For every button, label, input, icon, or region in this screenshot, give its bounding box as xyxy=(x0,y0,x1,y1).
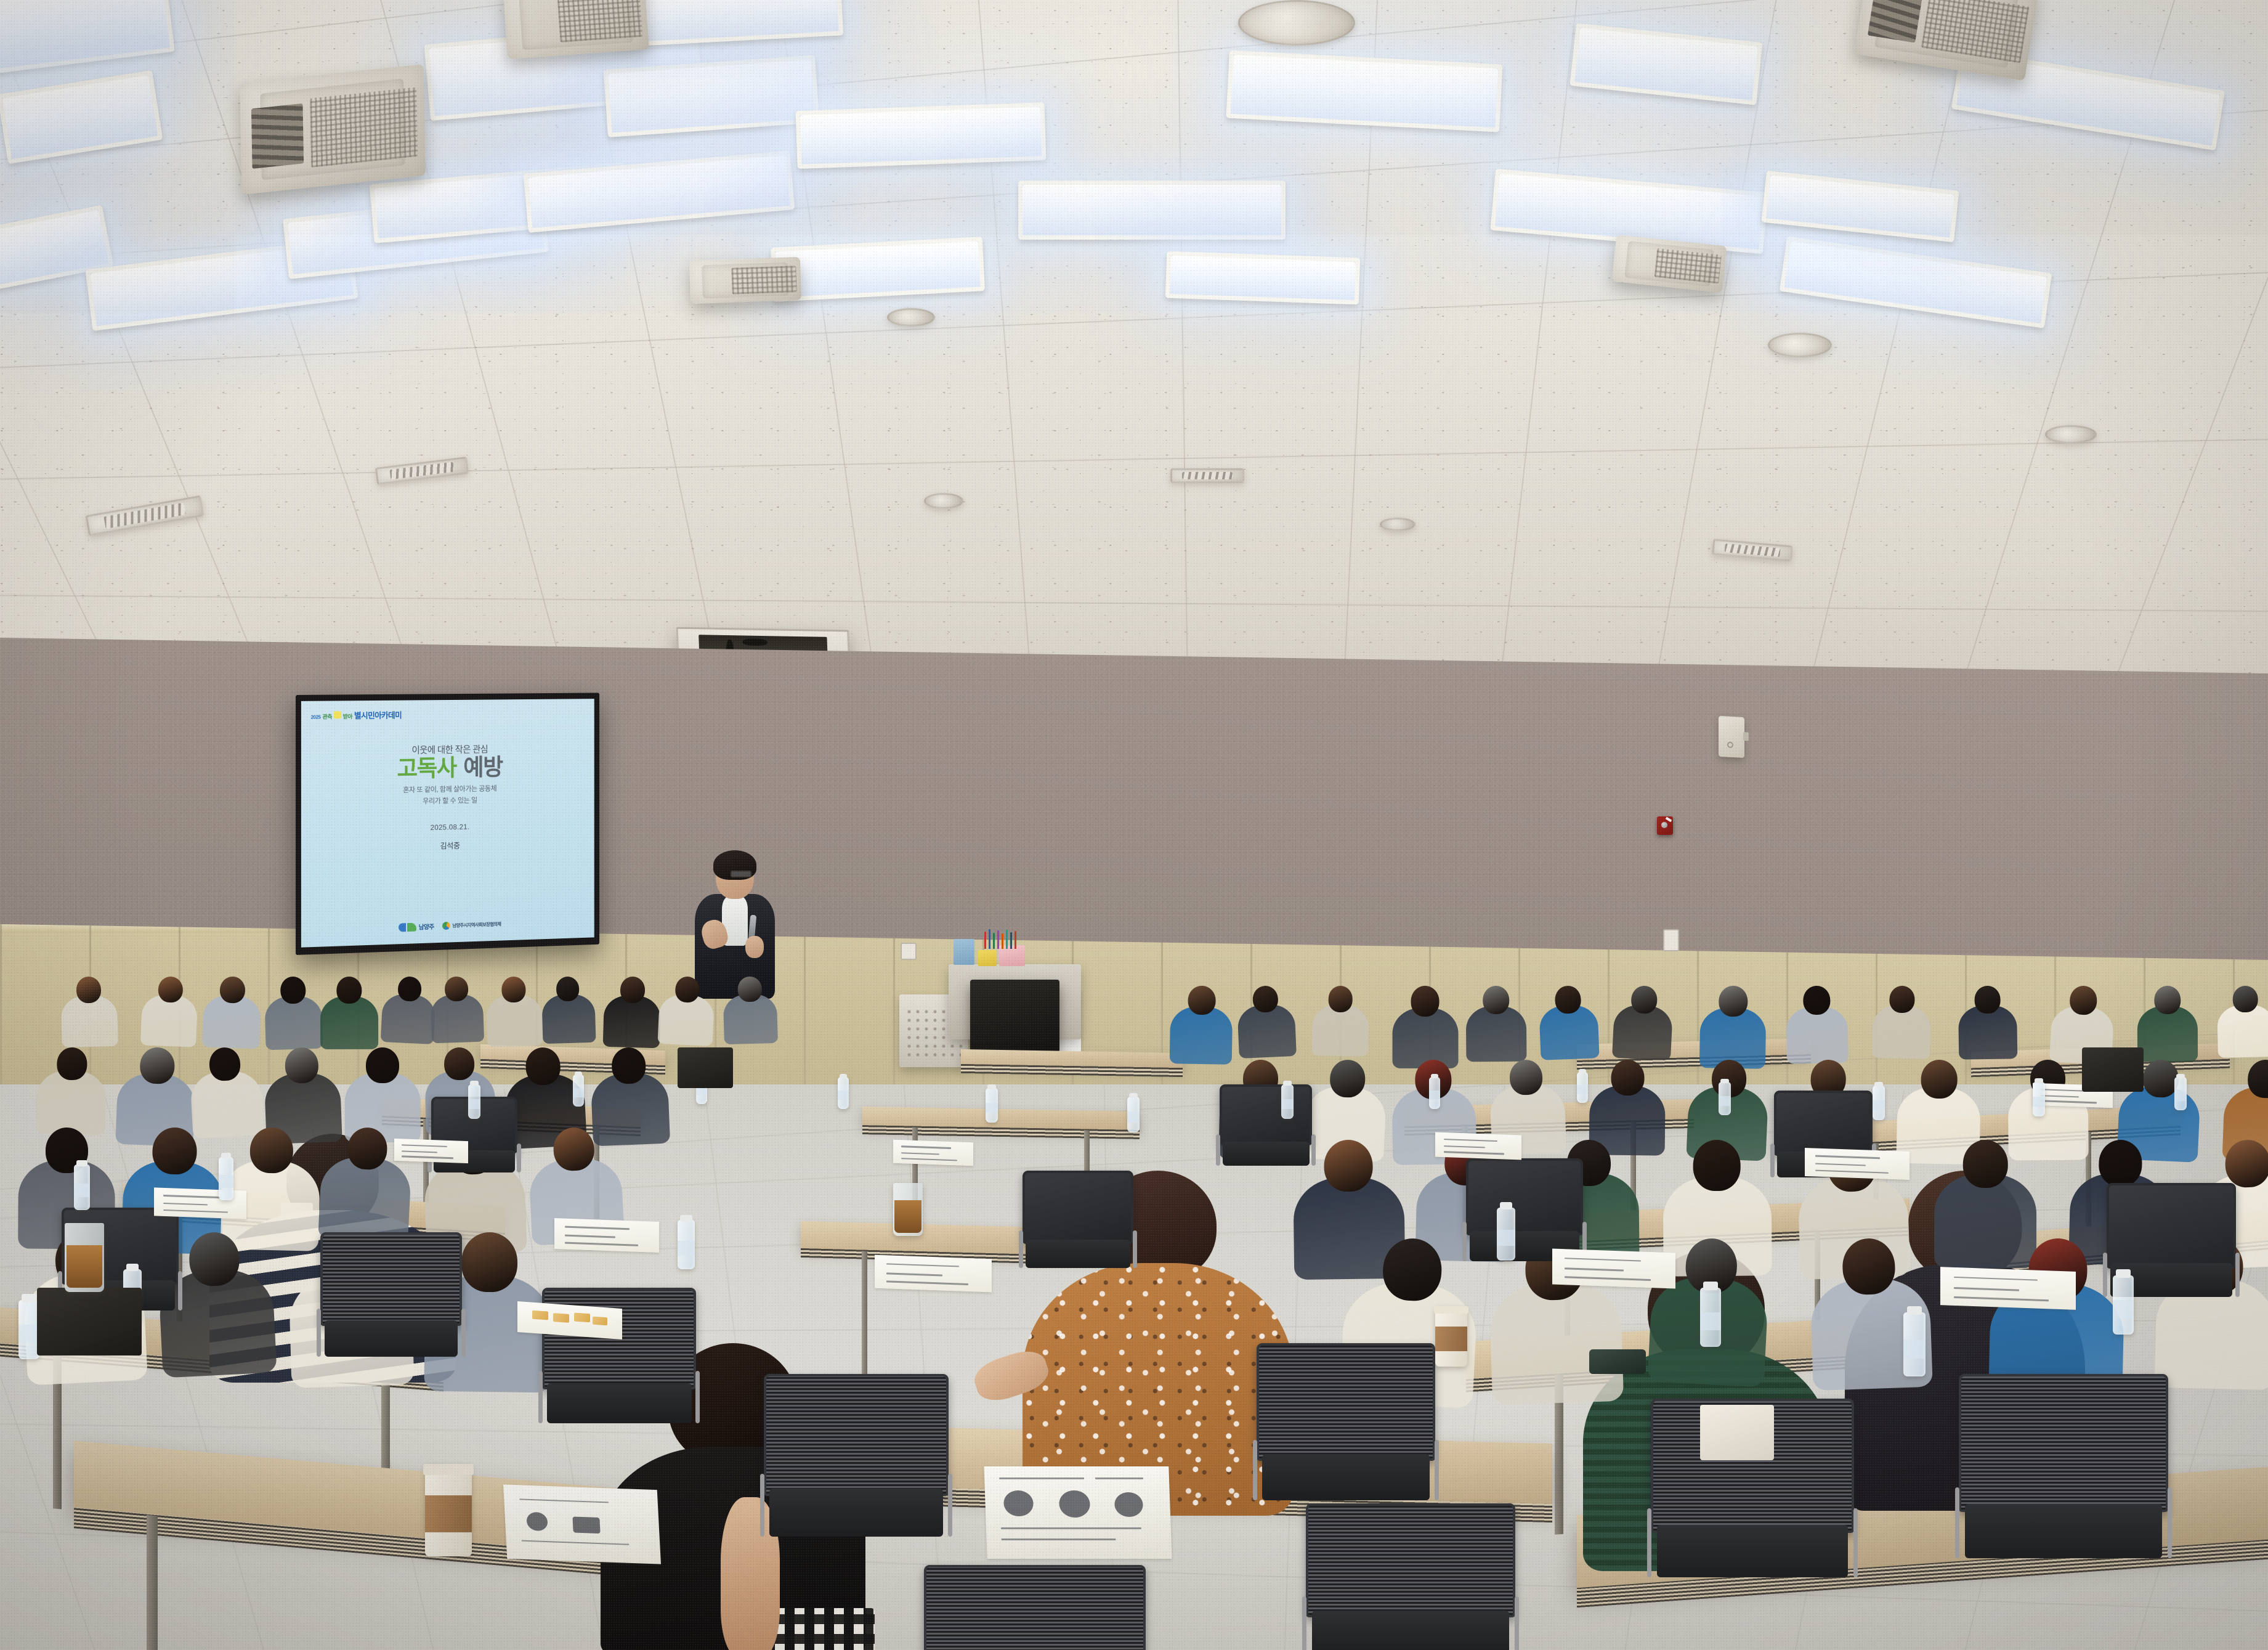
attendee-head xyxy=(461,1232,518,1292)
bottle-cap xyxy=(1431,1074,1438,1078)
handout-paper[interactable] xyxy=(875,1255,992,1293)
bottle-cap xyxy=(221,1153,231,1159)
attendee-head xyxy=(1555,985,1581,1014)
chair-backrest xyxy=(924,1565,1146,1650)
attendee-head xyxy=(366,1047,399,1083)
attendee-head xyxy=(1328,986,1353,1012)
handout-paper[interactable] xyxy=(1435,1132,1521,1160)
chair[interactable] xyxy=(1959,1374,2168,1583)
chair[interactable] xyxy=(1257,1343,1435,1522)
water-bottle[interactable] xyxy=(1903,1312,1926,1376)
cup-lid xyxy=(423,1464,474,1475)
attendee-head xyxy=(445,976,469,1001)
cup-sleeve xyxy=(425,1495,472,1532)
handbag[interactable] xyxy=(2082,1047,2144,1092)
bottle-label xyxy=(678,1241,695,1256)
bottle-label xyxy=(1577,1085,1588,1094)
list-item xyxy=(1871,985,1931,1067)
attendee-head xyxy=(188,1231,241,1287)
chair-arm xyxy=(1462,1222,1467,1262)
chair-seat xyxy=(1312,1611,1509,1650)
water-bottle[interactable] xyxy=(74,1164,90,1210)
list-item xyxy=(1311,985,1369,1064)
handout-paper[interactable] xyxy=(893,1140,973,1166)
bottle-cap xyxy=(680,1215,692,1222)
attendee-torso xyxy=(1466,1006,1527,1062)
list-item xyxy=(1612,985,1674,1068)
bottle-cap xyxy=(840,1074,847,1078)
bottle-cap xyxy=(575,1071,582,1076)
water-bottle[interactable] xyxy=(2174,1077,2187,1110)
chair-arm xyxy=(1435,1440,1439,1501)
bottle-cap xyxy=(1703,1282,1717,1290)
bottle-label xyxy=(468,1099,480,1110)
bottle-label xyxy=(986,1103,998,1113)
water-bottle[interactable] xyxy=(573,1075,584,1107)
attendee-head xyxy=(280,976,306,1004)
chair-backrest xyxy=(1306,1503,1515,1617)
paper-cup xyxy=(425,1464,472,1556)
bottle-label xyxy=(1873,1100,1885,1111)
chair-arm xyxy=(2235,1253,2240,1296)
attendee-head xyxy=(1631,985,1658,1014)
attendee-head xyxy=(620,976,645,1003)
chair[interactable] xyxy=(320,1232,462,1374)
water-bottle[interactable] xyxy=(1127,1097,1140,1132)
attendee-head xyxy=(1693,1140,1741,1191)
water-bottle[interactable] xyxy=(1577,1072,1588,1103)
list-item xyxy=(430,976,485,1051)
water-bottle[interactable] xyxy=(678,1220,695,1269)
bottle-cap xyxy=(76,1160,87,1166)
water-bottle[interactable] xyxy=(2113,1275,2134,1335)
chair-backrest xyxy=(320,1232,462,1326)
attendee-head xyxy=(285,1047,319,1084)
bottle-label xyxy=(1127,1112,1140,1122)
list-item xyxy=(2216,985,2268,1065)
water-bottle[interactable] xyxy=(986,1088,998,1123)
handout-paper[interactable] xyxy=(394,1139,468,1163)
attendee-head xyxy=(1509,1059,1544,1095)
handout-paper xyxy=(503,1484,661,1564)
chair-arm xyxy=(1515,1596,1519,1650)
chair-arm xyxy=(317,1309,321,1357)
handout-paper[interactable] xyxy=(1552,1249,1675,1289)
chair[interactable] xyxy=(924,1565,1146,1650)
chair-seat xyxy=(1262,1454,1430,1500)
bottle-cap xyxy=(1129,1093,1138,1098)
water-bottle[interactable] xyxy=(1429,1077,1440,1109)
attendee-torso xyxy=(1170,1006,1233,1064)
bottle-cap xyxy=(1579,1069,1586,1073)
attendee-torso xyxy=(2137,1006,2198,1062)
cup-lid xyxy=(1434,1306,1468,1314)
attendee-head xyxy=(1188,986,1216,1015)
chair-arm xyxy=(1311,1134,1316,1166)
list-item xyxy=(1958,985,2018,1067)
handout-paper[interactable] xyxy=(1940,1267,2076,1310)
bottle-label xyxy=(1497,1230,1515,1246)
water-bottle[interactable] xyxy=(1497,1208,1515,1261)
list-item xyxy=(140,975,199,1055)
water-bottle[interactable] xyxy=(1281,1084,1294,1119)
attendee-head xyxy=(1252,985,1278,1013)
chair-arm xyxy=(1253,1440,1257,1501)
bottle-cap xyxy=(1907,1306,1922,1315)
water-bottle[interactable] xyxy=(1873,1086,1885,1120)
bottle-cap xyxy=(2116,1269,2130,1277)
attendee-head xyxy=(1411,986,1440,1017)
chair-arm xyxy=(1019,1230,1023,1268)
bottle-label xyxy=(2174,1091,2187,1101)
list-item xyxy=(380,975,437,1051)
chair-arm xyxy=(1216,1134,1220,1166)
chair-arm xyxy=(1647,1508,1651,1577)
attendee-head xyxy=(158,976,183,1003)
bottle-cap xyxy=(987,1084,996,1089)
attendee-torso xyxy=(1959,1005,2018,1059)
eyeglass-case[interactable] xyxy=(1589,1349,1646,1374)
chair-backrest xyxy=(1023,1171,1133,1244)
attendee-head xyxy=(1611,1060,1645,1095)
bottle-label xyxy=(74,1184,90,1197)
iced-coffee-cup[interactable] xyxy=(893,1183,923,1236)
attendee-head xyxy=(1324,1140,1373,1192)
attendee-head xyxy=(1719,986,1748,1017)
attendee-head xyxy=(57,1047,87,1081)
chair[interactable] xyxy=(1220,1084,1312,1177)
chair-arm xyxy=(1853,1508,1858,1577)
attendee-head xyxy=(2232,986,2258,1013)
water-bottle[interactable] xyxy=(2033,1082,2045,1116)
list-item xyxy=(264,976,323,1057)
chair-backrest xyxy=(2107,1183,2236,1269)
chair[interactable] xyxy=(1306,1503,1515,1650)
water-bottle[interactable] xyxy=(219,1157,233,1200)
chair-backrest xyxy=(1774,1091,1873,1156)
attendee-head xyxy=(525,1047,562,1086)
attendee-head xyxy=(443,1047,475,1080)
chair-backrest xyxy=(1466,1158,1583,1235)
water-bottle[interactable] xyxy=(1700,1288,1721,1347)
bottle-cap xyxy=(1500,1202,1512,1209)
chair-arm xyxy=(695,1371,700,1423)
attendee-torso xyxy=(1786,1006,1848,1063)
attendee-head xyxy=(249,1127,293,1174)
list-item xyxy=(1236,985,1297,1066)
photo-canvas: 2025 관측 받아 별시민아카데미 이웃에 대한 작은 관심 고독사 예방 혼… xyxy=(0,0,2268,1650)
attendee-head xyxy=(208,1047,241,1082)
bottle-label xyxy=(573,1088,584,1098)
water-bottle[interactable] xyxy=(18,1300,39,1359)
handbag[interactable] xyxy=(37,1288,142,1355)
attendee-head xyxy=(1963,1140,2008,1188)
bottle-label xyxy=(2033,1097,2045,1107)
attendee-head xyxy=(152,1127,198,1175)
cup-sleeve xyxy=(1435,1327,1467,1351)
bottle-label xyxy=(1903,1339,1926,1359)
chair-seat xyxy=(1223,1142,1310,1166)
attendee-torso xyxy=(202,995,261,1049)
handbag[interactable] xyxy=(1700,1405,1774,1460)
chair-seat xyxy=(325,1320,458,1357)
bottle-label xyxy=(838,1091,849,1100)
attendee-head xyxy=(1921,1059,1958,1099)
bottle-label xyxy=(2113,1300,2134,1318)
chair-seat xyxy=(769,1489,943,1537)
attendee-head xyxy=(336,977,362,1004)
list-item xyxy=(602,976,661,1056)
bottle-label xyxy=(1700,1312,1721,1330)
bottle-cap xyxy=(2176,1074,2185,1079)
chair-arm xyxy=(2103,1253,2107,1296)
chair-backrest xyxy=(1220,1084,1312,1145)
chair-arm xyxy=(517,1144,521,1173)
chair-arm xyxy=(461,1309,466,1357)
paper-cup[interactable] xyxy=(1435,1306,1467,1367)
handbag[interactable] xyxy=(678,1047,733,1088)
bottle-label xyxy=(1719,1096,1731,1106)
attendee-head xyxy=(220,976,246,1004)
bottle-cap xyxy=(2035,1078,2043,1083)
iced-coffee-liquid xyxy=(894,1200,921,1233)
chair-arm xyxy=(1133,1230,1137,1268)
chair[interactable] xyxy=(1023,1171,1133,1282)
bottle-label xyxy=(18,1325,39,1343)
chair-seat xyxy=(547,1383,692,1423)
handout-paper[interactable] xyxy=(1805,1148,1910,1180)
attendee-torso xyxy=(2217,1004,2268,1058)
bottle-cap xyxy=(126,1264,139,1271)
water-bottle[interactable] xyxy=(1719,1082,1731,1115)
chair-arm xyxy=(1770,1144,1775,1177)
handout-paper[interactable] xyxy=(554,1218,659,1253)
chair-arm xyxy=(948,1474,952,1537)
list-item xyxy=(657,975,715,1054)
list-item xyxy=(1539,985,1600,1068)
attendee-head xyxy=(738,976,762,1002)
bottle-cap xyxy=(1283,1081,1292,1086)
attendee-head xyxy=(2098,1139,2143,1187)
attendee-head xyxy=(1975,986,2001,1014)
attendee-head xyxy=(675,976,700,1002)
chair-seat xyxy=(1965,1504,2162,1558)
chair-arm xyxy=(538,1371,543,1423)
chair-arm xyxy=(1955,1487,1959,1559)
attendee-head xyxy=(1889,986,1915,1014)
list-item xyxy=(2137,986,2198,1070)
attendee-head xyxy=(501,977,526,1003)
attendee-head xyxy=(1329,1059,1366,1098)
handout-paper xyxy=(984,1466,1172,1559)
list-item xyxy=(723,976,778,1052)
bottle-label xyxy=(1281,1099,1294,1110)
iced-coffee-liquid xyxy=(67,1245,103,1288)
chair-seat xyxy=(1657,1525,1848,1578)
chair-arm xyxy=(760,1474,764,1537)
bottle-cap xyxy=(22,1294,36,1302)
chair-arm xyxy=(2168,1487,2172,1559)
chair-arm xyxy=(178,1271,182,1311)
chair-seat xyxy=(1026,1240,1130,1269)
bottle-label xyxy=(219,1175,233,1188)
attendee-head xyxy=(397,976,422,1002)
chair-backrest xyxy=(1257,1343,1435,1461)
chair[interactable] xyxy=(764,1374,949,1559)
attendee-head xyxy=(1842,1238,1896,1296)
bottle-cap xyxy=(1874,1082,1883,1087)
iced-coffee-cup[interactable] xyxy=(65,1223,104,1292)
water-bottle[interactable] xyxy=(838,1077,849,1109)
attendee-head xyxy=(556,976,580,1001)
bottle-label xyxy=(1429,1091,1440,1100)
water-bottle[interactable] xyxy=(468,1084,480,1119)
chair-arm xyxy=(1302,1596,1306,1650)
list-item xyxy=(320,977,378,1057)
bottle-cap xyxy=(470,1081,479,1086)
list-item xyxy=(541,976,596,1051)
attendee-head xyxy=(2154,986,2181,1014)
attendee-torso xyxy=(1311,1004,1368,1057)
list-item xyxy=(486,976,543,1054)
bottle-cap xyxy=(1720,1079,1729,1084)
attendee-head xyxy=(611,1047,646,1084)
list-item xyxy=(1466,986,1527,1070)
attendee-head xyxy=(1803,986,1831,1015)
list-item xyxy=(202,976,261,1057)
attendee-head xyxy=(1483,986,1509,1014)
attendee-torso xyxy=(320,996,378,1049)
chair-backrest xyxy=(1959,1374,2168,1512)
chair-backrest xyxy=(764,1374,949,1496)
